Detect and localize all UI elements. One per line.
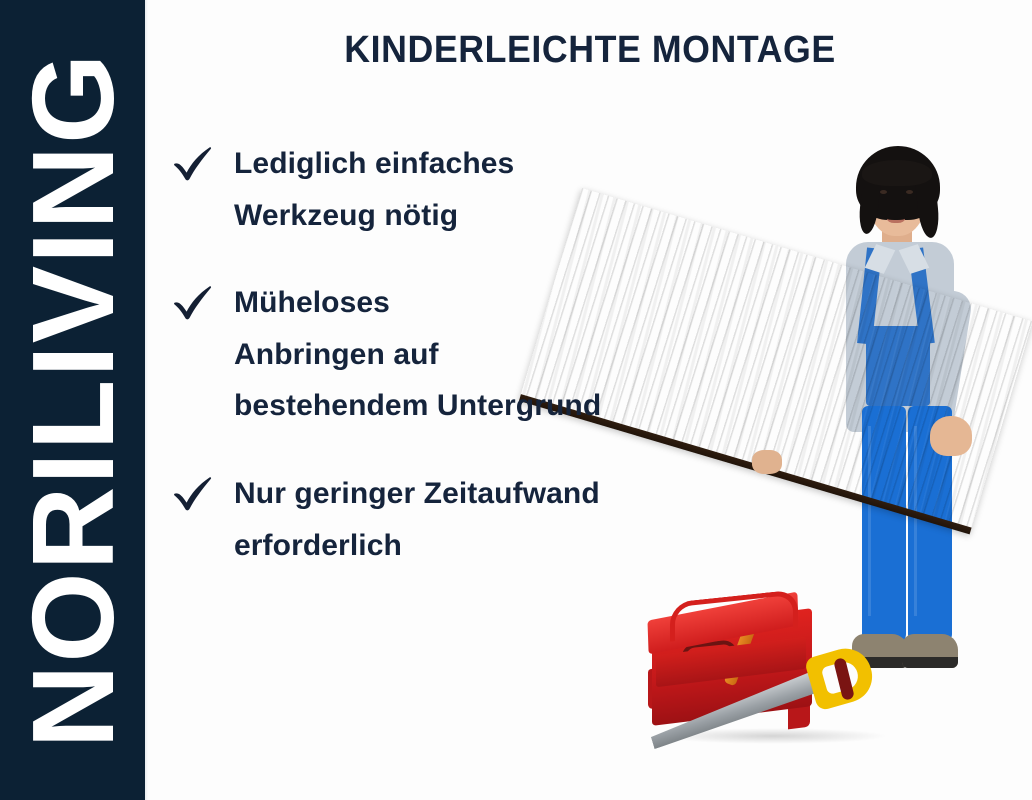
feature-list: Lediglich einfaches Werkzeug nötig Mühel…: [170, 138, 730, 571]
rail-seam-divider: [145, 0, 148, 800]
eye-right: [906, 190, 913, 194]
page-title: KINDERLEICHTE MONTAGE: [186, 30, 994, 72]
tool-group: [642, 588, 912, 778]
checkmark-icon: [170, 470, 216, 516]
hair-fringe: [862, 160, 932, 186]
list-item-label: Müheloses Anbringen auf bestehendem Unte…: [234, 277, 601, 432]
checkmark-icon: [170, 140, 216, 186]
list-item: Lediglich einfaches Werkzeug nötig: [170, 138, 730, 241]
list-item: Nur geringer Zeitaufwand erforderlich: [170, 468, 730, 571]
mouth: [887, 212, 905, 223]
hand-right: [930, 416, 972, 456]
eye-left: [880, 190, 887, 194]
checkmark-icon: [170, 279, 216, 325]
brand-wordmark: NORILIVING: [15, 52, 131, 749]
hand-left: [752, 450, 782, 474]
list-item-label: Nur geringer Zeitaufwand erforderlich: [234, 468, 600, 571]
brand-rail: NORILIVING: [0, 0, 145, 800]
list-item-label: Lediglich einfaches Werkzeug nötig: [234, 138, 514, 241]
list-item: Müheloses Anbringen auf bestehendem Unte…: [170, 277, 730, 432]
promo-poster: NORILIVING KINDERLEICHTE MONTAGE Ledigli…: [0, 0, 1032, 800]
